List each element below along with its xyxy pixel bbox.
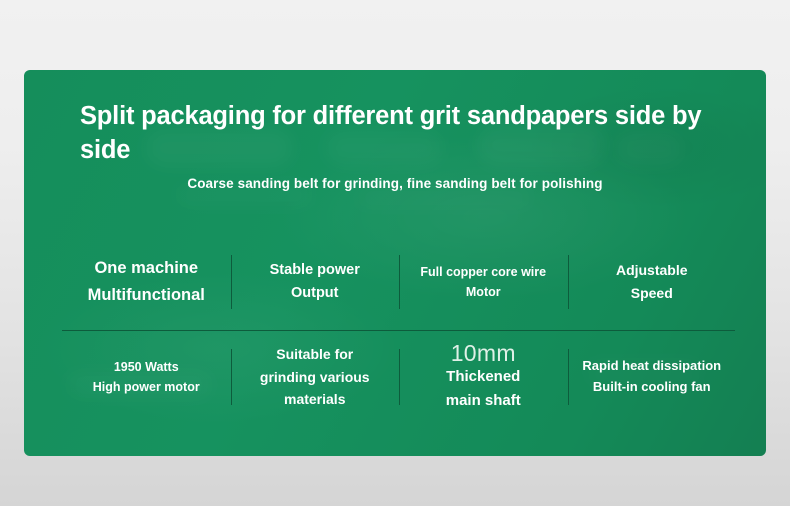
feature-cell-adjustable-speed: Adjustable Speed [568,248,737,316]
feature-line: Rapid heat dissipation [582,356,721,377]
feature-cell-suitable-materials: Suitable for grinding various materials [231,342,400,412]
feature-cell-main-shaft: 10mm Thickened main shaft [399,342,568,412]
feature-line: Speed [631,282,673,305]
horizontal-divider [62,330,735,331]
feature-line: Suitable for [276,343,353,365]
feature-row-1: One machine Multifunctional Stable power… [62,248,736,316]
feature-cell-one-machine: One machine Multifunctional [62,248,231,316]
feature-line: grinding various [260,366,370,388]
feature-line: 1950 Watts [114,357,179,377]
feature-line: Full copper core wire [420,262,546,282]
feature-line: Adjustable [616,259,688,282]
page-title: Split packaging for different grit sandp… [80,100,730,168]
feature-line: Thickened [446,365,520,389]
feature-line: Stable power [270,259,360,282]
feature-measurement: 10mm [451,341,516,365]
feature-line: High power motor [93,377,200,397]
feature-cell-cooling-fan: Rapid heat dissipation Built-in cooling … [568,342,737,412]
feature-line: materials [284,388,345,410]
feature-row-2: 1950 Watts High power motor Suitable for… [62,342,736,412]
feature-cell-copper-motor: Full copper core wire Motor [399,248,568,316]
subtitle: Coarse sanding belt for grinding, fine s… [24,176,766,191]
feature-line: main shaft [446,389,521,413]
feature-line: One machine [94,255,198,282]
promo-panel: Split packaging for different grit sandp… [24,70,766,456]
feature-cell-stable-power: Stable power Output [231,248,400,316]
feature-line: Motor [466,282,501,302]
feature-line: Multifunctional [88,282,205,309]
feature-line: Built-in cooling fan [593,377,711,398]
feature-line: Output [291,282,339,305]
feature-cell-wattage: 1950 Watts High power motor [62,342,231,412]
